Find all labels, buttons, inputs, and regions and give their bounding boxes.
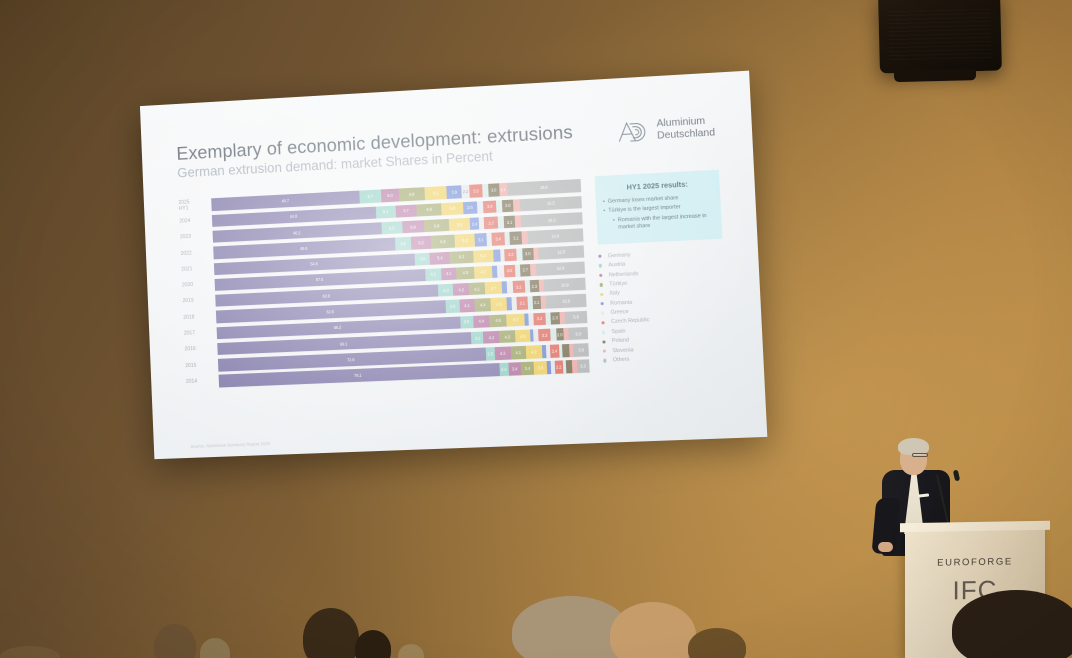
bar-segment: 3.1 xyxy=(516,297,528,310)
bar-segment: 4.1 xyxy=(441,267,457,280)
bar-segment: 12.8 xyxy=(536,261,585,276)
bar-segment: 3.3 xyxy=(469,185,482,198)
bullet-icon: • xyxy=(613,218,616,233)
legend-label: Türkiye xyxy=(609,281,627,288)
chart-legend: GermanyAustriaNetherlandsTürkiyeItalyRom… xyxy=(598,248,728,364)
bar-segment: 5.8 xyxy=(442,202,464,215)
projected-slide: Exemplary of economic development: extru… xyxy=(140,71,767,460)
chart-row-label: 2014 xyxy=(186,378,219,385)
legend-swatch-icon xyxy=(602,330,606,334)
audience-head xyxy=(154,624,196,658)
bar-segment: 3.2 xyxy=(533,312,546,325)
ceiling-loudspeaker-icon xyxy=(878,0,1002,73)
aluminium-deutschland-logo: Aluminium Deutschland xyxy=(617,115,716,145)
bar-segment: 4.7 xyxy=(506,313,524,326)
bullet-icon: • xyxy=(603,208,605,215)
legend-label: Greece xyxy=(610,309,628,316)
bar-segment: 4.2 xyxy=(453,283,469,296)
bar-segment: 4.7 xyxy=(484,282,502,295)
bar-segment: 2.7 xyxy=(520,264,531,277)
legend-label: Spain xyxy=(611,328,625,335)
bar-segment: 4.9 xyxy=(456,267,475,280)
bar-segment: 4.5 xyxy=(394,237,411,250)
bar-segment: 5.0 xyxy=(380,189,399,202)
legend-swatch-icon xyxy=(600,293,604,297)
audience-head xyxy=(355,630,391,658)
bar-segment: 3.4 xyxy=(483,200,496,213)
results-list: •Germany loses market share•Türkiye is t… xyxy=(603,193,715,232)
legend-swatch-icon xyxy=(601,321,605,325)
chart-row-label: 2025 HY1 xyxy=(178,199,211,212)
bar-segment: 4.2 xyxy=(483,331,499,344)
bar-segment: 16.2 xyxy=(521,212,583,227)
bar-segment: 6.8 xyxy=(424,219,450,233)
bar-segment: 4.1 xyxy=(510,346,526,359)
bar-segment: 4.0 xyxy=(415,252,430,265)
bar-segment: 3.9 xyxy=(573,343,588,356)
legend-swatch-icon xyxy=(599,264,603,268)
bar-segment: 3.4 xyxy=(521,362,534,375)
bar-segment: 4.7 xyxy=(474,266,492,279)
chart-row-label: 2021 xyxy=(181,266,214,273)
projection-screen: Exemplary of economic development: extru… xyxy=(140,88,754,448)
presenter-hand xyxy=(878,542,893,552)
bar-segment: 4.2 xyxy=(425,268,441,281)
audience-head xyxy=(688,628,746,658)
bar-segment: 3.6 xyxy=(534,362,548,375)
legend-label: Netherlands xyxy=(609,271,639,278)
bar-segment: 3.1 xyxy=(510,232,522,245)
bar-segment: 5.8 xyxy=(565,311,588,324)
bar-segment: 3.6 xyxy=(463,201,477,214)
bar-segment: 4.1 xyxy=(459,299,475,312)
bar-segment: 3.9 xyxy=(447,186,462,199)
microphone-icon xyxy=(953,470,960,482)
bar-segment: 4.4 xyxy=(473,315,490,328)
bar-segment: 4.6 xyxy=(489,314,507,327)
bar-segment: 5.6 xyxy=(449,218,470,231)
legend-swatch-icon xyxy=(599,274,603,278)
legend-label: Slovenia xyxy=(612,347,633,354)
ad-monogram-icon xyxy=(617,119,651,145)
result-text: Romania with the largest increase in mar… xyxy=(618,213,715,233)
bar-segment: 3.0 xyxy=(503,265,515,278)
legend-label: Others xyxy=(613,357,630,364)
audience-head xyxy=(200,638,230,658)
bar-segment: 4.4 xyxy=(474,298,491,311)
bar-segment: 3.0 xyxy=(522,247,534,260)
bar-segment: 19.6 xyxy=(507,179,581,195)
bar-segment: 4.2 xyxy=(494,347,510,360)
legend-swatch-icon xyxy=(603,359,607,363)
legend-swatch-icon xyxy=(601,302,605,306)
legend-label: Austria xyxy=(608,262,625,269)
bar-segment: 3.4 xyxy=(508,363,521,376)
legend-swatch-icon xyxy=(602,340,606,344)
logo-text: Aluminium Deutschland xyxy=(656,115,715,143)
bar-segment: 10.6 xyxy=(546,294,587,308)
bar-segment: 3.0 xyxy=(502,199,514,212)
legend-swatch-icon xyxy=(598,255,602,259)
lectern-brand-label: EUROFORGE xyxy=(905,556,1045,569)
legend-label: Poland xyxy=(612,338,629,345)
chart-row-label: 2015 xyxy=(185,362,218,369)
legend-swatch-icon xyxy=(600,283,604,287)
chart-row-label: 2022 xyxy=(181,250,214,257)
bar-segment: 6.1 xyxy=(424,186,447,200)
legend-label: Italy xyxy=(610,290,620,297)
bar-segment: 3.7 xyxy=(484,216,498,229)
bar-segment: 16.3 xyxy=(520,196,582,212)
bar-segment: 5.2 xyxy=(411,236,431,249)
lectern-top-surface xyxy=(900,521,1050,533)
bar-segment: 3.2 xyxy=(505,248,518,261)
bar-segment: 2.5 xyxy=(485,347,495,360)
bar-segment: 6.6 xyxy=(430,235,455,249)
bar-segment: 3.2 xyxy=(512,281,525,294)
legend-swatch-icon xyxy=(603,349,607,353)
chart-zone: 2025 HY140.75.75.06.86.13.92.23.33.02.11… xyxy=(178,170,730,431)
legend-label: Czech Republic xyxy=(611,318,650,326)
bar-segment: 5.6 xyxy=(381,221,402,234)
bar-segment: 4.3 xyxy=(491,298,508,311)
bar-segment: 6.8 xyxy=(399,188,425,202)
bar-segment: 4.2 xyxy=(526,345,542,358)
bar-segment: 3.0 xyxy=(488,184,500,197)
stacked-bar-chart: 2025 HY140.75.75.06.86.13.92.23.33.02.11… xyxy=(178,177,591,430)
chart-row-label: 2023 xyxy=(180,234,213,241)
legend-item: Others xyxy=(603,353,728,364)
chart-row-label: 2018 xyxy=(183,314,216,321)
audience-head xyxy=(0,646,60,658)
bullet-icon: • xyxy=(603,199,605,206)
bar-segment: 5.4 xyxy=(375,205,395,218)
bar-segment: 4.0 xyxy=(515,329,531,342)
bar-segment: 3.5 xyxy=(460,316,474,329)
speaker-grille xyxy=(888,9,991,63)
chart-row-label: 2016 xyxy=(185,346,218,353)
bar-segment: 3.2 xyxy=(471,331,484,344)
right-panel: HY1 2025 results: •Germany loses market … xyxy=(580,170,730,415)
chart-row-label: 2019 xyxy=(183,298,216,305)
bar-segment: 3.4 xyxy=(491,232,504,245)
bar-segment: 10.9 xyxy=(544,278,586,292)
result-bullet-item: •Romania with the largest increase in ma… xyxy=(604,213,715,233)
bar-segment: 3.3 xyxy=(576,360,589,373)
bar-segment: 3.1 xyxy=(475,233,487,246)
bar-segment: 5.7 xyxy=(359,190,381,203)
bar-segment: 5.3 xyxy=(455,234,475,247)
bar-segment: 5.0 xyxy=(569,327,588,340)
glasses-icon xyxy=(912,453,928,457)
legend-label: Romania xyxy=(610,299,632,306)
audience-head xyxy=(303,608,359,658)
slide-content: Exemplary of economic development: extru… xyxy=(140,71,767,460)
bar-segment: 3.6 xyxy=(446,300,460,313)
results-callout-box: HY1 2025 results: •Germany loses market … xyxy=(595,170,723,245)
bar-segment: 14.8 xyxy=(527,229,583,244)
chart-row-label: 2024 xyxy=(179,218,212,225)
bar-segment: 3.3 xyxy=(538,329,551,342)
chart-row-label: 2020 xyxy=(182,282,215,289)
results-title: HY1 2025 results: xyxy=(602,178,713,193)
source-note: Source: Aluminium Summary Report 2025 xyxy=(190,441,270,449)
conference-room-scene: Exemplary of economic development: extru… xyxy=(0,0,1072,658)
bar-segment: 4.3 xyxy=(499,330,516,343)
bar-segment: 5.4 xyxy=(430,251,451,264)
bar-segment: 4.2 xyxy=(469,282,485,295)
bar-segment: 5.9 xyxy=(402,220,424,233)
audience-head xyxy=(398,644,424,658)
bar-segment: 5.7 xyxy=(395,204,417,217)
chart-row-label: 2017 xyxy=(184,330,217,337)
bar-segment: 4.0 xyxy=(438,284,453,297)
bar-segment: 6.2 xyxy=(450,250,474,263)
bar-segment: 5.4 xyxy=(473,249,494,262)
legend-swatch-icon xyxy=(601,311,605,315)
legend-label: Germany xyxy=(608,252,631,259)
bar-segment: 6.8 xyxy=(416,203,442,217)
bar-segment: 3.1 xyxy=(503,216,515,229)
bar-segment: 12.0 xyxy=(538,245,584,260)
audience-head xyxy=(610,602,696,658)
